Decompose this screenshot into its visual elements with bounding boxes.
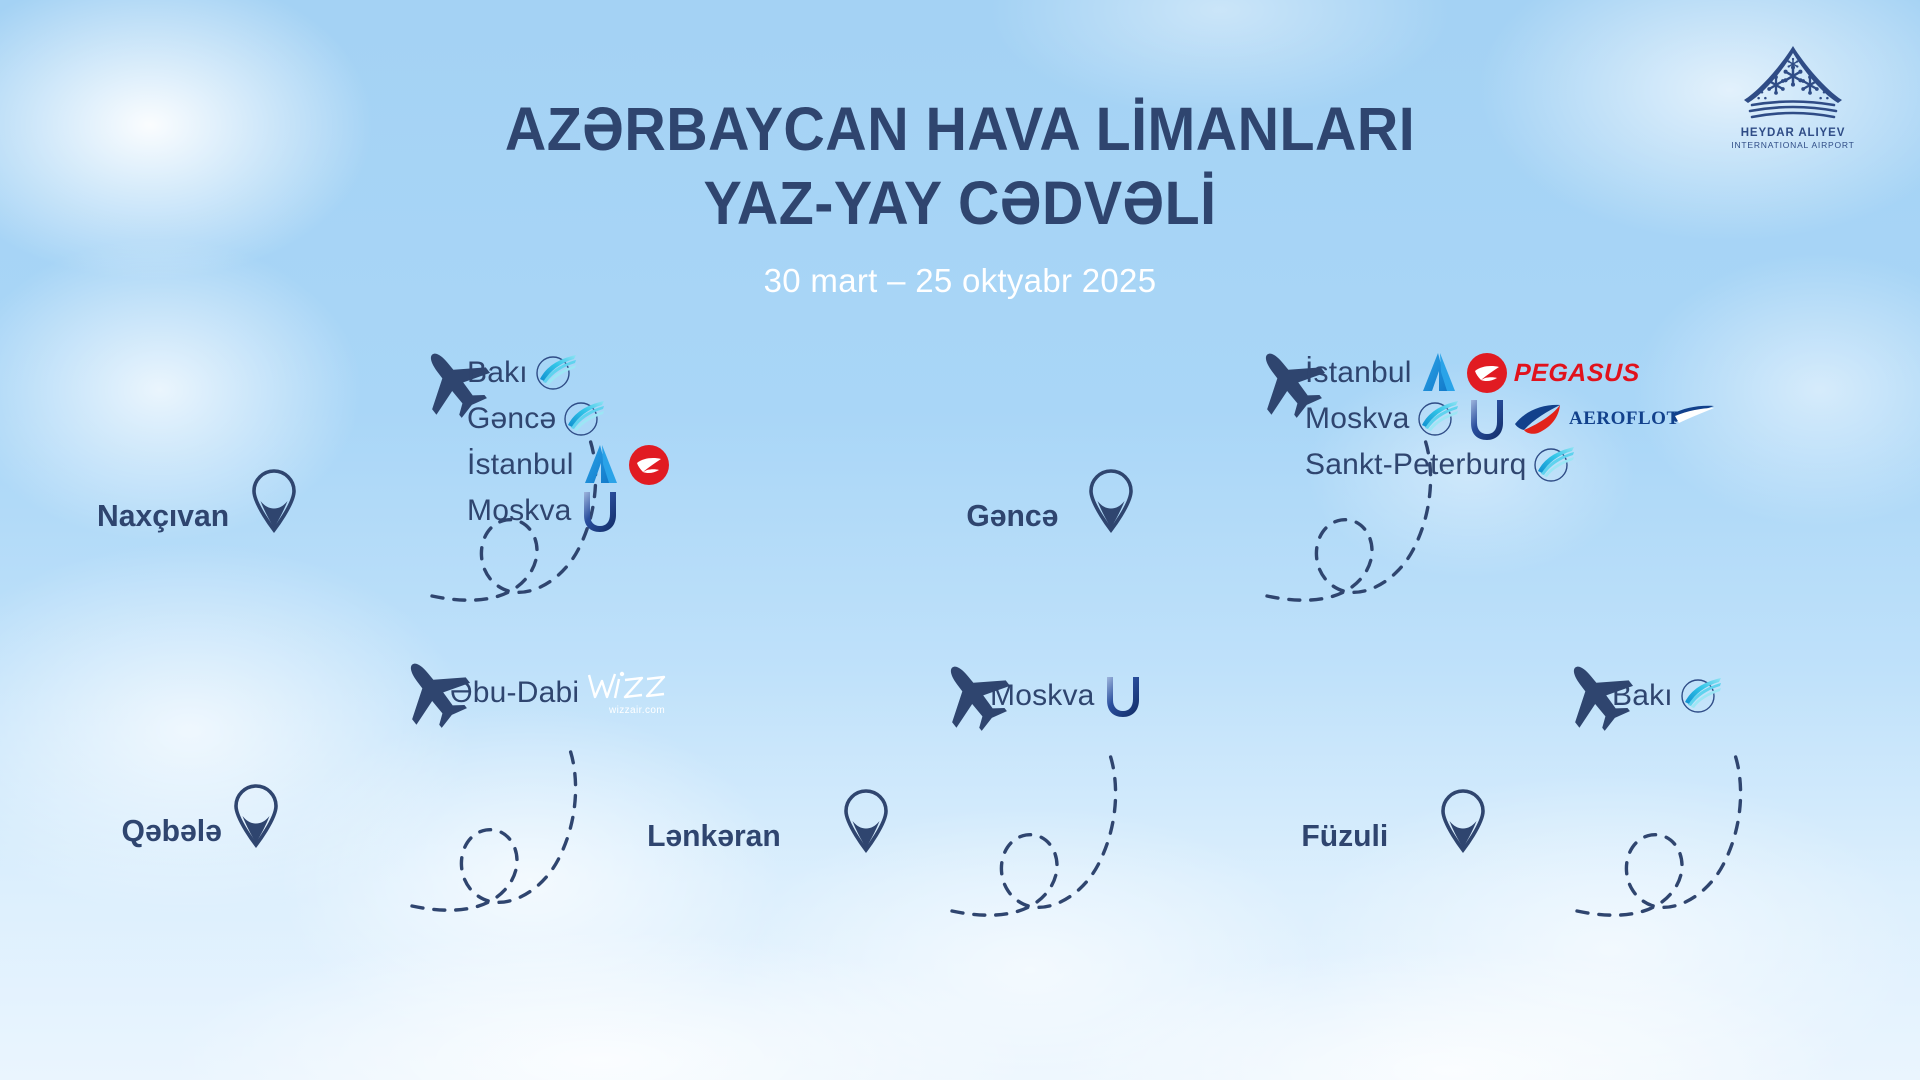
turkish-airlines-logo-icon — [1465, 351, 1509, 395]
city-label-naxcivan: Naxçıvan — [97, 498, 229, 534]
airline-logos — [562, 399, 611, 439]
destination-name: Moskva — [990, 679, 1095, 713]
azal-logo-icon — [562, 399, 606, 439]
schedule-date-range: 30 mart – 25 oktyabr 2025 — [0, 262, 1920, 300]
destination-row: Bakı — [1612, 673, 1728, 719]
destination-name: Gəncə — [467, 402, 556, 436]
airline-logos — [1679, 676, 1728, 716]
flight-path-dashed — [240, 710, 660, 930]
aeroflot-wordmark: AEROFLOT — [1569, 404, 1719, 434]
airline-logos: PEGASUS — [1418, 351, 1645, 395]
city-label-fuzuli: Füzuli — [1301, 818, 1388, 854]
location-pin-icon — [843, 788, 889, 854]
pegasus-logo-text: PEGASUS — [1513, 359, 1640, 388]
route-block-naxcivan: Naxçıvan Bakı Gəncə — [95, 420, 815, 640]
azal-logo-icon — [1532, 445, 1576, 485]
route-block-gence: Gəncə İstanbul PEGASUS — [965, 420, 1920, 640]
azal-a-logo-icon — [580, 443, 622, 487]
destination-name: Əbu-Dabi — [450, 676, 579, 710]
airline-logos: wizzair.com — [585, 667, 672, 719]
wizz-url-text: wizzair.com — [608, 705, 665, 716]
airport-logo-subtitle: INTERNATIONAL AIRPORT — [1718, 140, 1868, 150]
destination-row: Əbu-Dabi wizzair.com — [450, 670, 672, 716]
airline-logos: AEROFLOT — [1416, 396, 1724, 442]
azal-logo-icon — [534, 353, 578, 393]
airline-logos — [580, 443, 676, 487]
airport-logo-name: HEYDAR ALIYEV — [1718, 127, 1868, 139]
location-pin-icon — [1440, 788, 1486, 854]
destination-name: İstanbul — [1305, 356, 1412, 390]
destination-list-gence: İstanbul PEGASUS Moskva — [1305, 350, 1724, 488]
azal-a-logo-icon — [1418, 351, 1460, 395]
destination-name: Bakı — [1612, 679, 1673, 713]
header: AZƏRBAYCAN HAVA LİMANLARI YAZ-YAY CƏDVƏL… — [0, 0, 1920, 300]
airline-logos — [534, 353, 583, 393]
ural-airlines-logo-icon — [1101, 673, 1143, 719]
destination-list-qebele: Əbu-Dabi wizzair.com — [450, 670, 672, 716]
wizz-air-logo-icon: wizzair.com — [585, 667, 667, 719]
destination-list-fuzuli: Bakı — [1612, 673, 1728, 719]
azal-logo-icon — [1679, 676, 1723, 716]
destination-name: Moskva — [467, 494, 572, 528]
location-pin-icon — [233, 783, 279, 849]
destination-name: İstanbul — [467, 448, 574, 482]
aeroflot-mark-icon — [1512, 400, 1564, 438]
airline-logos — [1101, 673, 1148, 719]
destination-row: Bakı — [467, 350, 676, 396]
destination-list-naxcivan: Bakı Gəncə İstan — [467, 350, 676, 534]
city-label-gence: Gəncə — [966, 498, 1058, 534]
route-block-fuzuli: Füzuli Bakı — [1300, 740, 1920, 960]
location-pin-icon — [251, 468, 297, 534]
destination-row: Gəncə — [467, 396, 676, 442]
heydar-aliyev-airport-logo: HEYDAR ALIYEV INTERNATIONAL AIRPORT — [1718, 42, 1868, 150]
ural-airlines-logo-icon — [578, 488, 620, 534]
destination-name: Moskva — [1305, 402, 1410, 436]
destination-name: Bakı — [467, 356, 528, 390]
ural-airlines-logo-icon — [1465, 396, 1507, 442]
location-pin-icon — [1088, 468, 1134, 534]
destination-row: Moskva — [990, 673, 1148, 719]
destination-row: Moskva AEROFLOT — [1305, 396, 1724, 442]
destination-row: İstanbul PEGASUS — [1305, 350, 1724, 396]
page-title: AZƏRBAYCAN HAVA LİMANLARI YAZ-YAY CƏDVƏL… — [58, 92, 1863, 240]
route-block-lenkeran: Lənkəran Moskva — [645, 740, 1345, 960]
turkish-airlines-logo-icon — [627, 443, 671, 487]
destination-row: Moskva — [467, 488, 676, 534]
destination-name: Sankt-Peterburq — [1305, 448, 1526, 482]
city-label-lenkeran: Lənkəran — [647, 818, 781, 854]
destination-list-lenkeran: Moskva — [990, 673, 1148, 719]
azal-logo-icon — [1416, 399, 1460, 439]
airline-logos — [578, 488, 625, 534]
svg-text:AEROFLOT: AEROFLOT — [1569, 408, 1680, 429]
destination-row: İstanbul — [467, 442, 676, 488]
airport-emblem-icon — [1738, 42, 1848, 124]
title-line-2: YAZ-YAY CƏDVƏLİ — [58, 166, 1863, 240]
city-label-qebele: Qəbələ — [122, 813, 222, 849]
airline-logos — [1532, 445, 1581, 485]
title-line-1: AZƏRBAYCAN HAVA LİMANLARI — [58, 92, 1863, 166]
destination-row: Sankt-Peterburq — [1305, 442, 1724, 488]
